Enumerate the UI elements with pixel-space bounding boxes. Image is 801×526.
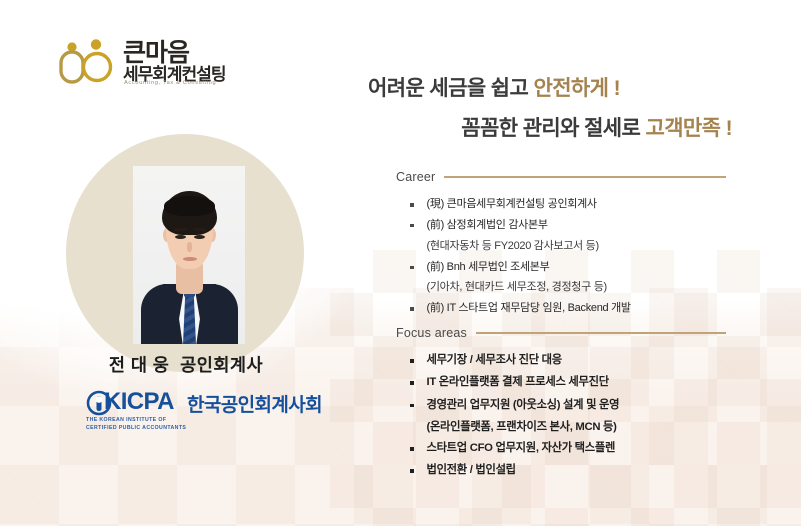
list-item-label: 스타트업 CFO 업무지원, 자산가 택스플렌	[427, 441, 616, 456]
list-item: (前) 삼정회계법인 감사본부	[410, 218, 726, 233]
list-item-subtext: (온라인플랫폼, 프랜차이즈 본사, MCN 등)	[427, 420, 727, 435]
list-item: IT 온라인플랫폼 결제 프로세스 세무진단	[410, 375, 726, 390]
bullet-dot-icon	[410, 447, 414, 451]
bullet-dot-icon	[410, 469, 414, 473]
headline-line-2: 꼼꼼한 관리와 절세로 고객만족 !	[360, 118, 780, 139]
list-item: (現) 큰마음세무회계컨설팅 공인회계사	[410, 197, 726, 212]
list-item: 법인전환 / 법인설립	[410, 463, 726, 478]
focus-list: 세무기장 / 세무조사 진단 대응IT 온라인플랫폼 결제 프로세스 세무진단경…	[396, 353, 726, 479]
list-item-subtext: (현대자동차 등 FY2020 감사보고서 등)	[427, 239, 727, 254]
bullet-dot-icon	[410, 266, 414, 270]
bullet-dot-icon	[410, 307, 414, 311]
headline-line-2-plain: 꼼꼼한 관리와 절세로	[461, 117, 645, 140]
photo-hair-top	[164, 196, 215, 216]
person-title: 공인회계사	[180, 355, 263, 375]
bullet-dot-icon	[410, 203, 414, 207]
focus-section-title: Focus areas	[396, 326, 467, 340]
list-item-subtext: (기아차, 현대카드 세무조정, 경정청구 등)	[427, 280, 727, 295]
career-section-title: Career	[396, 170, 435, 184]
kicpa-subtitle: THE KOREAN INSTITUTE OF CERTIFIED PUBLIC…	[86, 417, 186, 433]
person-name: 전 대 웅	[109, 355, 170, 375]
list-item-label: 경영관리 업무지원 (아웃소싱) 설계 및 운영	[427, 398, 620, 413]
kicpa-subtitle-line-2: CERTIFIED PUBLIC ACCOUNTANTS	[86, 425, 186, 433]
person-name-title: 전 대 웅 공인회계사	[16, 352, 356, 377]
focus-section-rule	[476, 332, 726, 334]
focus-section-header: Focus areas	[396, 326, 726, 340]
brand-tagline: Accounting, Tax & Consulting	[124, 80, 216, 86]
brand-logo: 큰마음 세무회계컨설팅 Accounting, Tax & Consulting	[55, 33, 255, 95]
career-list: (現) 큰마음세무회계컨설팅 공인회계사(前) 삼정회계법인 감사본부(현대자동…	[396, 197, 726, 316]
two-people-circles-logo-icon	[55, 37, 117, 87]
bullet-dot-icon	[410, 381, 414, 385]
headline-line-1: 어려운 세금을 쉽고 안전하게 !	[360, 78, 780, 99]
career-section-header: Career	[396, 170, 726, 184]
bullet-dot-icon	[410, 224, 414, 228]
bullet-dot-icon	[410, 359, 414, 363]
profile-slide: 큰마음 세무회계컨설팅 Accounting, Tax & Consulting…	[0, 0, 801, 526]
list-item: (前) Bnh 세무법인 조세본부	[410, 260, 726, 275]
photo-nose	[187, 242, 192, 252]
list-item: (前) IT 스타트업 재무담당 임원, Backend 개발	[410, 301, 726, 316]
kicpa-name-kr: 한국공인회계사회	[187, 390, 322, 417]
photo-eye-right	[194, 235, 205, 239]
headline-line-2-accent: 고객만족 !	[645, 117, 732, 140]
list-item-label: 법인전환 / 법인설립	[427, 463, 516, 478]
portrait-photo	[133, 166, 245, 344]
kicpa-wordmark: KICPA	[104, 388, 174, 416]
headline-line-1-plain: 어려운 세금을 쉽고	[368, 77, 533, 100]
headline: 어려운 세금을 쉽고 안전하게 ! 꼼꼼한 관리와 절세로 고객만족 !	[360, 78, 780, 139]
photo-eye-left	[175, 235, 186, 239]
headline-line-1-accent: 안전하게 !	[533, 77, 620, 100]
list-item-label: (現) 큰마음세무회계컨설팅 공인회계사	[427, 197, 597, 212]
kicpa-subtitle-line-1: THE KOREAN INSTITUTE OF	[86, 417, 186, 425]
career-section-rule	[444, 176, 726, 178]
list-item-label: (前) Bnh 세무법인 조세본부	[427, 260, 550, 275]
portrait-block	[16, 126, 356, 386]
kicpa-logo: KICPA 한국공인회계사회 THE KOREAN INSTITUTE OF C…	[86, 388, 336, 440]
career-section: Career (現) 큰마음세무회계컨설팅 공인회계사(前) 삼정회계법인 감사…	[396, 170, 726, 322]
list-item-label: (前) IT 스타트업 재무담당 임원, Backend 개발	[427, 301, 631, 316]
list-item-label: (前) 삼정회계법인 감사본부	[427, 218, 548, 233]
list-item-label: IT 온라인플랫폼 결제 프로세스 세무진단	[427, 375, 609, 390]
list-item: 스타트업 CFO 업무지원, 자산가 택스플렌	[410, 441, 726, 456]
list-item-label: 세무기장 / 세무조사 진단 대응	[427, 353, 562, 368]
photo-mouth	[183, 257, 197, 261]
bullet-dot-icon	[410, 404, 414, 408]
list-item: 경영관리 업무지원 (아웃소싱) 설계 및 운영	[410, 398, 726, 413]
list-item: 세무기장 / 세무조사 진단 대응	[410, 353, 726, 368]
focus-section: Focus areas 세무기장 / 세무조사 진단 대응IT 온라인플랫폼 결…	[396, 326, 726, 486]
